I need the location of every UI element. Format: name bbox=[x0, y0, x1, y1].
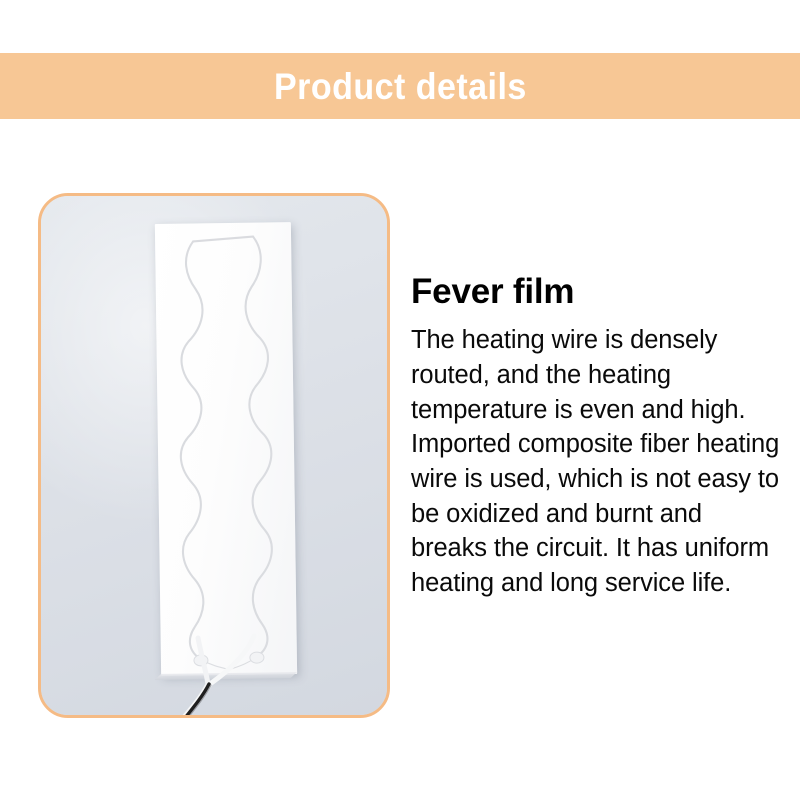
serpentine-heating-wire-icon bbox=[155, 222, 297, 676]
product-description: The heating wire is densely routed, and … bbox=[411, 323, 783, 600]
lead-wire-icon bbox=[158, 636, 278, 718]
product-info-column: Fever film The heating wire is densely r… bbox=[411, 272, 783, 601]
banner-title: Product details bbox=[274, 68, 527, 105]
heating-film-strip bbox=[155, 222, 297, 676]
product-title: Fever film bbox=[411, 272, 783, 311]
product-image-panel[interactable] bbox=[38, 193, 390, 718]
product-details-banner: Product details bbox=[0, 53, 800, 119]
